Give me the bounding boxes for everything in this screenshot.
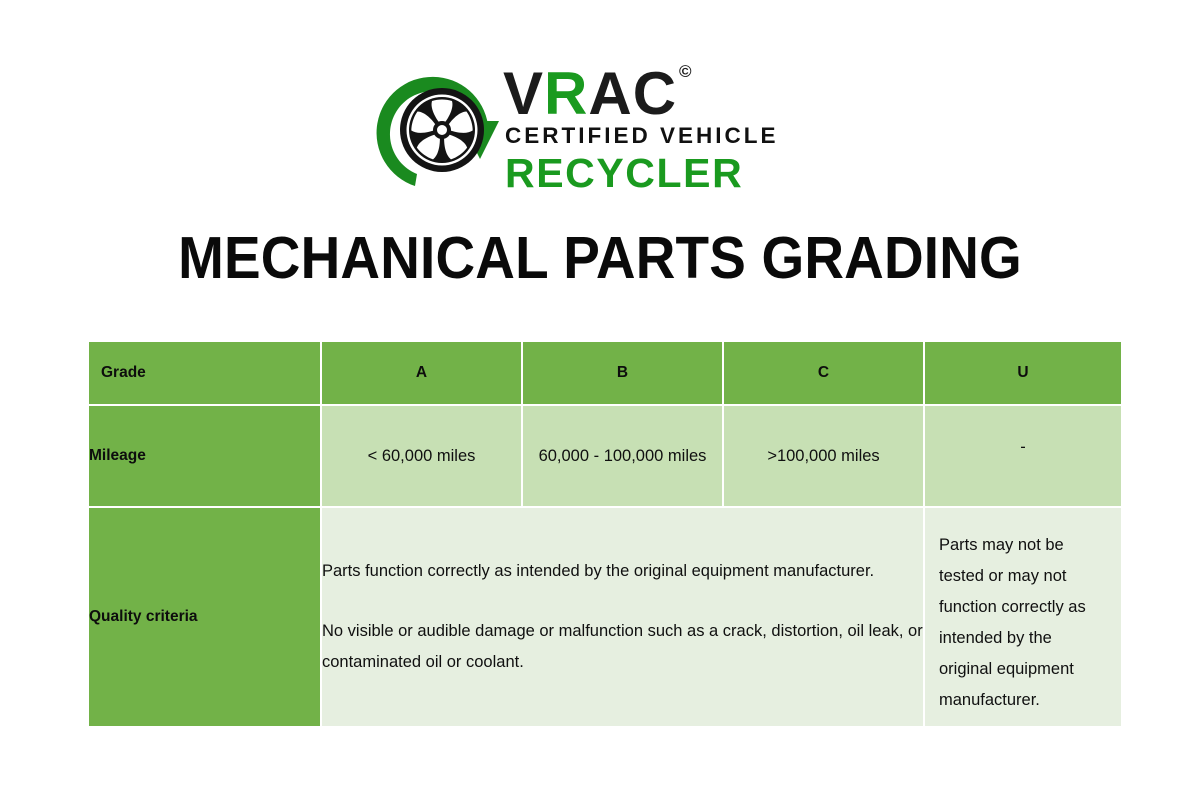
quality-paragraph-2: No visible or audible damage or malfunct… [322, 616, 923, 678]
header-grade-u: U [925, 342, 1121, 404]
page-root: VRAC© CERTIFIED VEHICLE RECYCLER MECHANI… [0, 0, 1200, 800]
cell-mileage-b: 60,000 - 100,000 miles [523, 406, 722, 506]
quality-paragraph-1: Parts function correctly as intended by … [322, 556, 923, 587]
logo-letter-r: R [544, 60, 588, 127]
logo-tagline: CERTIFIED VEHICLE [505, 123, 779, 149]
copyright-icon: © [679, 62, 692, 81]
cell-quality-u: Parts may not be tested or may not funct… [925, 508, 1121, 726]
header-grade-c: C [724, 342, 923, 404]
logo-wordmark: VRAC© [503, 57, 690, 125]
logo-letters-ac: AC [588, 60, 677, 127]
header-grade-a: A [322, 342, 521, 404]
row-label-mileage: Mileage [89, 406, 320, 506]
cell-quality-abc: Parts function correctly as intended by … [322, 508, 923, 726]
row-label-quality-criteria: Quality criteria [89, 508, 320, 726]
cell-mileage-c: >100,000 miles [724, 406, 923, 506]
table-header-row: Grade A B C U [89, 342, 1121, 404]
mechanical-parts-grading-table: Grade A B C U Mileage < 60,000 miles 60,… [87, 340, 1123, 728]
page-title: MECHANICAL PARTS GRADING [42, 222, 1158, 294]
cell-mileage-a: < 60,000 miles [322, 406, 521, 506]
table-row-mileage: Mileage < 60,000 miles 60,000 - 100,000 … [89, 406, 1121, 506]
table-row-quality-criteria: Quality criteria Parts function correctl… [89, 508, 1121, 726]
recycling-wheel-logo-icon [375, 63, 510, 198]
logo-wordmark-group: VRAC© CERTIFIED VEHICLE RECYCLER [503, 55, 835, 205]
logo-recycler-word: RECYCLER [505, 150, 743, 197]
header-grade-b: B [523, 342, 722, 404]
logo-letter-v: V [503, 60, 544, 127]
cell-mileage-u: - [925, 406, 1121, 506]
vrac-logo: VRAC© CERTIFIED VEHICLE RECYCLER [375, 55, 835, 205]
header-grade-label: Grade [89, 342, 320, 404]
